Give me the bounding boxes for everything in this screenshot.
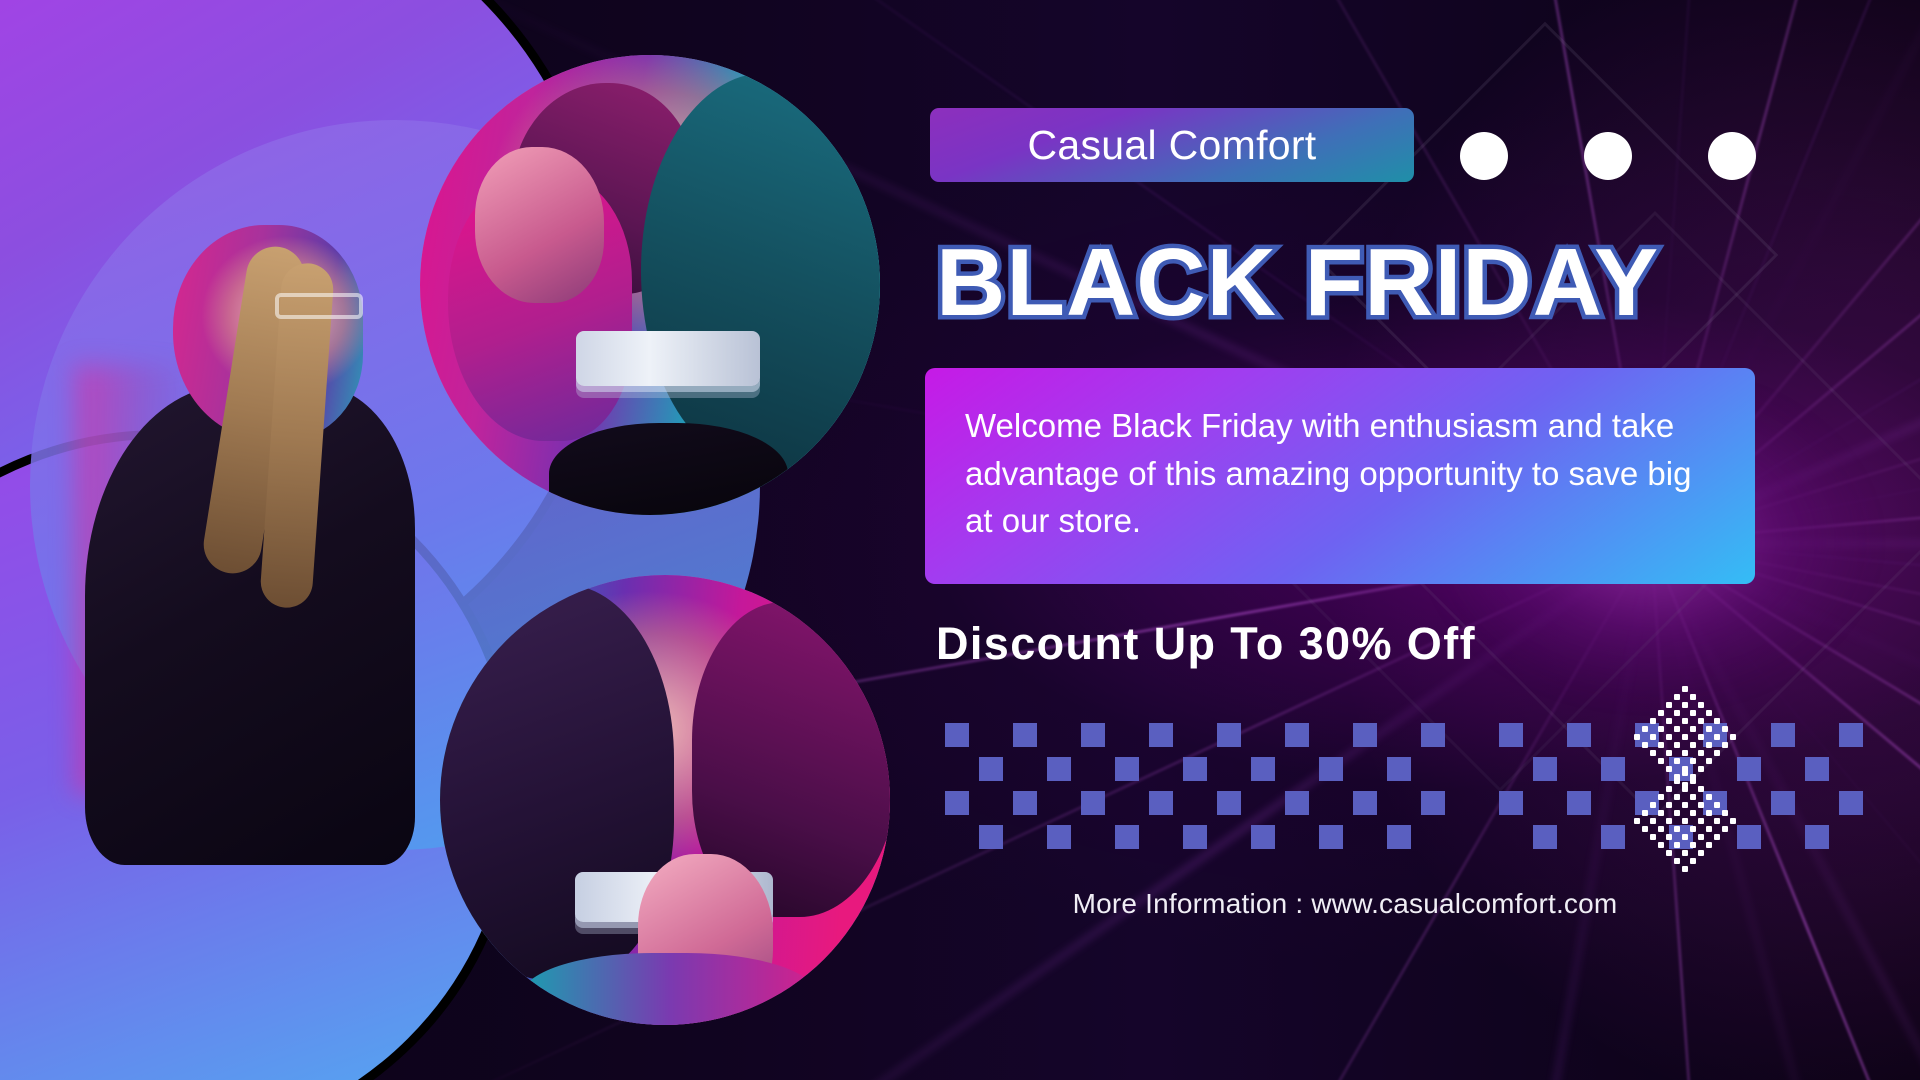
photo-hair-right	[641, 73, 880, 469]
sunglasses-icon	[275, 293, 363, 319]
more-information-text: More Information : www.casualcomfort.com	[930, 888, 1760, 920]
discount-headline: Discount Up To 30% Off	[936, 618, 1476, 670]
model-photo-top	[420, 55, 880, 515]
model-hoodie-figure	[75, 215, 445, 855]
photo-pearl-choker	[576, 331, 760, 386]
black-friday-promo-banner: Casual Comfort BLACK FRIDAY Welcome Blac…	[0, 0, 1920, 1080]
photo-hand	[475, 147, 604, 303]
description-text: Welcome Black Friday with enthusiasm and…	[965, 402, 1705, 545]
checkered-grid-left	[940, 718, 1450, 854]
brand-badge-label: Casual Comfort	[1027, 122, 1316, 169]
photo-garment	[521, 953, 818, 1025]
description-panel: Welcome Black Friday with enthusiasm and…	[925, 368, 1755, 584]
decor-dot-2	[1584, 132, 1632, 180]
decor-dot-1	[1460, 132, 1508, 180]
content-column: Casual Comfort BLACK FRIDAY Welcome Blac…	[930, 0, 1760, 1080]
dotted-diamond-ornament-icon	[1620, 700, 1750, 860]
page-title: BLACK FRIDAY	[936, 228, 1659, 338]
photo-garment	[549, 423, 788, 515]
model-photo-bottom	[440, 575, 890, 1025]
decor-dot-3	[1708, 132, 1756, 180]
brand-badge[interactable]: Casual Comfort	[930, 108, 1414, 182]
